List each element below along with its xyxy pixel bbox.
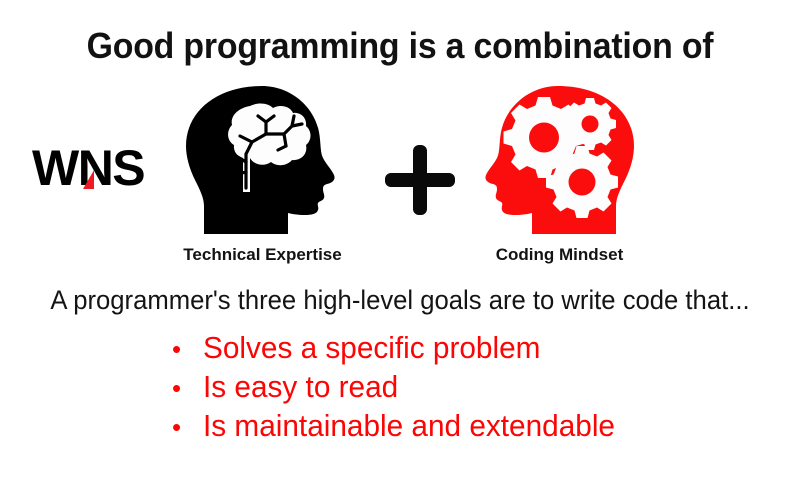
- bullet-marker-icon: •: [172, 369, 203, 408]
- gear-small: [564, 98, 616, 150]
- bullet-text: Is easy to read: [203, 367, 398, 406]
- concept-technical-expertise: [180, 80, 340, 240]
- caption-technical-expertise: Technical Expertise: [155, 244, 370, 266]
- wns-logo: WNS: [30, 88, 170, 150]
- bullet-text: Solves a specific problem: [203, 328, 540, 367]
- wns-logo-mark: WNS: [30, 88, 170, 248]
- caption-coding-mindset: Coding Mindset: [452, 244, 667, 266]
- plus-icon: [382, 142, 458, 218]
- page-title: Good programming is a combination of: [24, 24, 776, 68]
- subtitle-text: A programmer's three high-level goals ar…: [20, 283, 780, 317]
- head-brain-icon: [180, 80, 340, 240]
- bullet-marker-icon: •: [172, 408, 203, 447]
- bullet-marker-icon: •: [172, 330, 203, 369]
- list-item: • Is easy to read: [172, 367, 772, 406]
- list-item: • Is maintainable and extendable: [172, 406, 772, 445]
- bullet-text: Is maintainable and extendable: [203, 406, 615, 445]
- list-item: • Solves a specific problem: [172, 328, 772, 367]
- head-gears-icon: [478, 80, 640, 240]
- slide-canvas: Good programming is a combination of WNS: [0, 0, 800, 480]
- goals-bullet-list: • Solves a specific problem • Is easy to…: [172, 328, 772, 445]
- plus-icon-glyph: [382, 142, 458, 218]
- concept-coding-mindset: [478, 80, 640, 240]
